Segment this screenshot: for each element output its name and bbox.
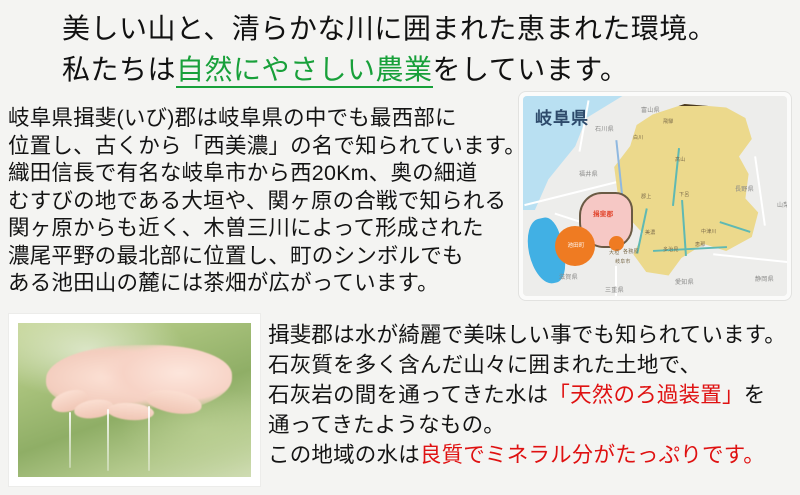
map-city-label: 多治見 [663, 246, 679, 253]
cupped-hands-photo [18, 323, 251, 477]
water-line3-suffix: を [744, 383, 766, 407]
intro-line: むすびの地である大垣や、関ヶ原の合戦で知られる [8, 188, 516, 216]
gifu-prefecture-map: 揖斐郡 池田町 岐阜県 富山県 石川県 福井県 長野県 山梨県 滋賀県 三重県 … [519, 92, 791, 300]
map-location-marker-label: 池田町 [560, 241, 592, 249]
water-line: この地域の水は良質でミネラル分がたっぷりです。 [268, 440, 798, 470]
intro-line: 織田信長で有名な岐阜市から西20Km、奥の細道 [8, 160, 516, 188]
heading-highlight-green: 自然にやさしい農業 [176, 54, 433, 88]
map-pref-label: 長野県 [735, 184, 754, 193]
water-highlight-mineral: 良質でミネラル分がたっぷりです。 [420, 443, 765, 467]
map-city-label: 恵那 [695, 241, 705, 248]
heading-line-1: 美しい山と、清らかな川に囲まれた恵まれた環境。 [62, 8, 782, 49]
heading-line2-suffix: をしています。 [433, 54, 629, 85]
map-pref-label: 福井県 [579, 169, 598, 178]
map-city-label: 飛騨 [663, 118, 673, 125]
water-line: 通ってきたようなもの。 [268, 410, 798, 440]
map-city-label: 岐阜市 [615, 258, 631, 265]
intro-line: ある池田山の麓には茶畑が広がっています。 [8, 270, 516, 298]
map-city-label: 大垣 [609, 249, 619, 256]
map-city-label: 下呂 [679, 191, 689, 198]
intro-paragraph: 岐阜県揖斐(いび)郡は岐阜県の中でも最西部に 位置し、古くから「西美濃」の名で知… [8, 105, 516, 298]
map-city-label: 中津川 [701, 228, 717, 235]
heading-line2-prefix: 私たちは [62, 54, 176, 85]
intro-line: 関ヶ原からも近く、木曽三川によって形成された [8, 215, 516, 243]
map-title: 岐阜県 [535, 104, 589, 129]
map-ibi-district-label: 揖斐郡 [593, 208, 613, 218]
water-line: 石灰岩の間を通ってきた水は「天然のろ過装置」を [268, 380, 798, 410]
intro-line: 岐阜県揖斐(いび)郡は岐阜県の中でも最西部に [8, 105, 516, 133]
map-pref-label: 石川県 [595, 124, 614, 133]
intro-line: 位置し、古くから「西美濃」の名で知られています。 [8, 133, 516, 161]
map-canvas: 揖斐郡 池田町 岐阜県 富山県 石川県 福井県 長野県 山梨県 滋賀県 三重県 … [523, 96, 787, 296]
map-pref-label: 静岡県 [755, 274, 774, 283]
water-highlight-filter: 「天然のろ過装置」 [548, 383, 743, 407]
water-line: 揖斐郡は水が綺麗で美味しい事でも知られています。 [268, 320, 798, 350]
water-photo-frame [9, 314, 260, 486]
map-pref-label: 滋賀県 [559, 272, 578, 281]
map-city-label: 各務原 [623, 248, 639, 255]
map-pref-label: 三重県 [605, 285, 624, 294]
map-pref-label: 山梨県 [777, 200, 787, 209]
water-drip [107, 409, 109, 471]
map-city-label: 郡上 [641, 193, 651, 200]
page-heading: 美しい山と、清らかな川に囲まれた恵まれた環境。 私たちは自然にやさしい農業をして… [62, 8, 782, 90]
map-city-label: 美濃 [645, 229, 655, 236]
map-pref-label: 富山県 [641, 105, 660, 114]
water-line3-prefix: 石灰岩の間を通ってきた水は [268, 383, 548, 407]
water-line5-prefix: この地域の水は [268, 443, 420, 467]
intro-line: 濃尾平野の最北部に位置し、町のシンボルでも [8, 243, 516, 271]
promo-page: 美しい山と、清らかな川に囲まれた恵まれた環境。 私たちは自然にやさしい農業をして… [0, 0, 800, 495]
heading-line-2: 私たちは自然にやさしい農業をしています。 [62, 49, 782, 90]
water-line: 石灰質を多く含んだ山々に囲まれた土地で、 [268, 350, 798, 380]
map-city-label: 白川 [633, 134, 643, 141]
map-city-label: 高山 [675, 156, 685, 163]
water-drip [69, 412, 71, 467]
map-pref-label: 愛知県 [675, 277, 694, 286]
water-paragraph: 揖斐郡は水が綺麗で美味しい事でも知られています。 石灰質を多く含んだ山々に囲まれ… [268, 320, 798, 470]
